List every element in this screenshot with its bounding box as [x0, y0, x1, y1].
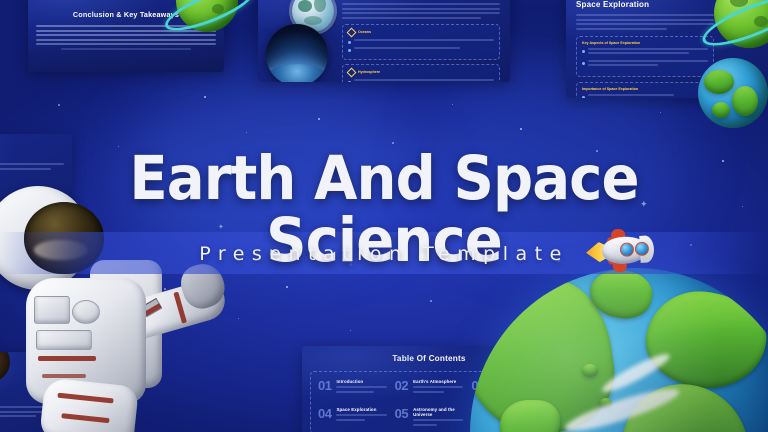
hydrosphere-heading: Hydrosphere	[358, 70, 380, 74]
presentation-cover-screenshot: ✦ ✦ ✦ ✦ ✦ ✦ Conclusion & Key Takeaways	[0, 0, 768, 432]
ringed-planet-icon-left	[176, 0, 238, 32]
toc-label: Astronomy and the Universe	[413, 407, 463, 417]
oceans-intro-lines	[342, 3, 500, 19]
oceans-section-panel: Oceans	[342, 24, 500, 60]
toc-label: Introduction	[336, 379, 386, 384]
toc-number: 02	[395, 379, 408, 392]
space-intro-lines	[576, 14, 714, 30]
ringed-planet-icon-right	[714, 0, 768, 48]
toc-item-01[interactable]: 01 Introduction	[318, 379, 387, 400]
earth-globe	[470, 268, 768, 432]
toc-item-04[interactable]: 04 Space Exploration	[318, 407, 387, 428]
toc-label: Space Exploration	[336, 407, 386, 412]
toc-item-02[interactable]: 02 Earth's Atmosphere	[395, 379, 464, 400]
rocket-icon	[587, 226, 653, 275]
space-key-aspects-panel: Key Aspects of Space Exploration	[576, 36, 714, 77]
toc-number: 05	[395, 407, 408, 420]
space-importance-heading: Importance of Space Exploration	[582, 87, 708, 91]
hydrosphere-section-panel: Hydrosphere	[342, 64, 500, 83]
toc-label: Earth's Atmosphere	[413, 379, 463, 384]
continent-europe	[641, 286, 768, 394]
toc-item-05[interactable]: 05 Astronomy and the Universe	[395, 407, 464, 428]
earth-from-space-photo	[266, 24, 328, 82]
diamond-icon	[347, 67, 357, 77]
astronaut-leg	[39, 377, 139, 432]
toc-number: 04	[318, 407, 331, 420]
slide-thumbnail-oceans[interactable]: Oceans And Hydrosphere Oceans Hydrospher	[258, 0, 510, 82]
oceans-heading: Oceans	[358, 30, 371, 34]
slide-title-space-exploration: Space Exploration	[576, 0, 714, 9]
diamond-icon	[347, 27, 357, 37]
space-importance-panel: Importance of Space Exploration	[576, 82, 714, 99]
small-earth-globe-icon	[698, 58, 768, 128]
space-key-aspects-heading: Key Aspects of Space Exploration	[582, 41, 708, 45]
toc-number: 01	[318, 379, 331, 392]
